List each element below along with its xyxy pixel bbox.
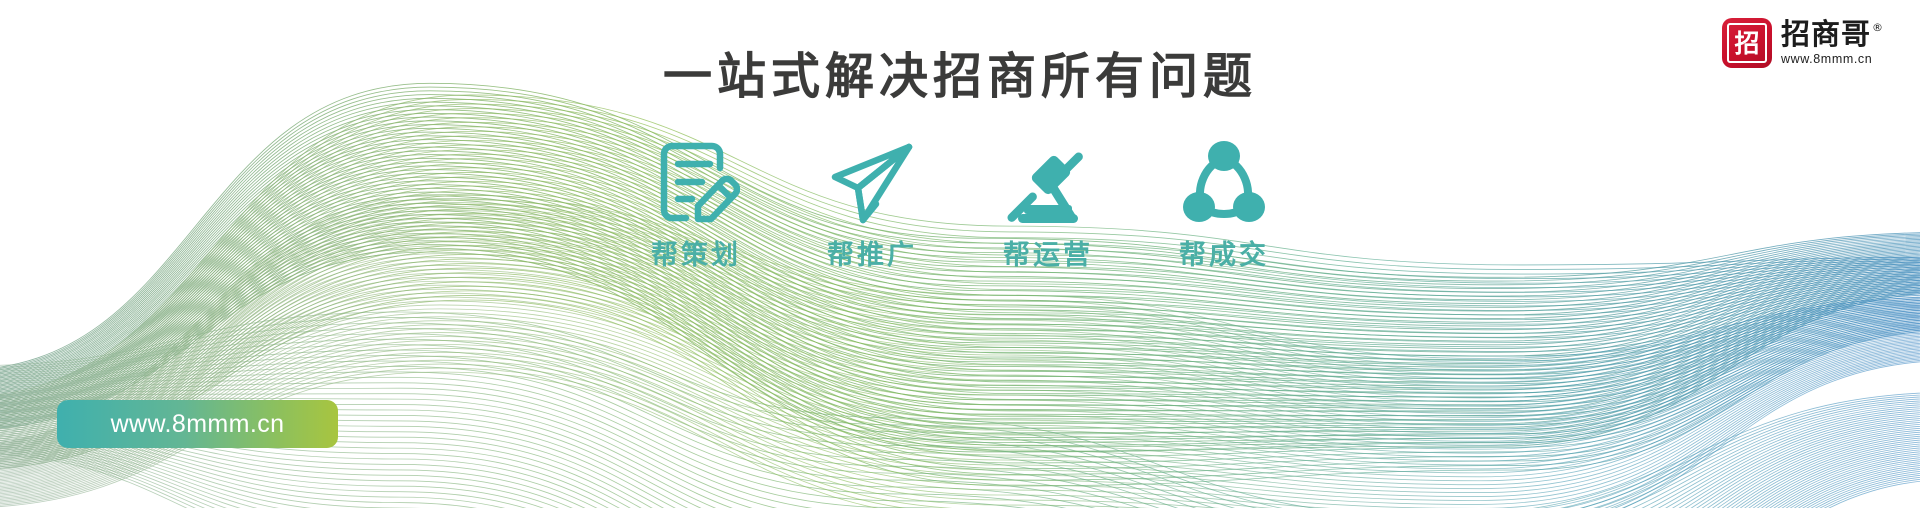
gavel-icon	[1002, 134, 1094, 230]
share-network-icon	[1178, 134, 1270, 230]
document-pencil-icon	[652, 134, 740, 230]
logo-wordmark-text: 招商哥	[1781, 20, 1871, 49]
page-title: 一站式解决招商所有问题	[0, 52, 1920, 101]
feature-label: 帮运营	[1003, 242, 1093, 269]
promo-banner: 招 招商哥 ® www.8mmm.cn 一站式解决招商所有问题	[0, 0, 1920, 508]
feature-item-promotion[interactable]: 帮推广	[812, 134, 932, 269]
feature-label: 帮推广	[827, 242, 917, 269]
registered-trademark-icon: ®	[1872, 22, 1884, 33]
feature-label: 帮策划	[651, 242, 741, 269]
feature-label: 帮成交	[1179, 242, 1269, 269]
feature-item-operations[interactable]: 帮运营	[988, 134, 1108, 269]
website-url-text: www.8mmm.cn	[111, 410, 285, 439]
website-url-badge[interactable]: www.8mmm.cn	[57, 400, 338, 448]
paper-plane-icon	[826, 134, 918, 230]
feature-item-deal[interactable]: 帮成交	[1164, 134, 1284, 269]
feature-item-planning[interactable]: 帮策划	[636, 134, 756, 269]
logo-wordmark: 招商哥 ®	[1781, 20, 1884, 49]
feature-list: 帮策划 帮推广	[0, 134, 1920, 269]
